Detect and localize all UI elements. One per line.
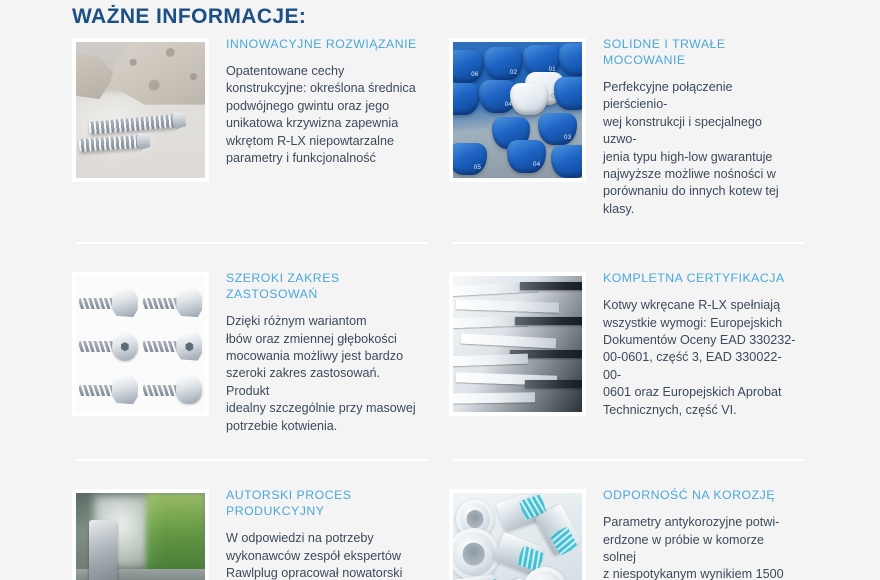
stadium-seat: 06 <box>453 50 484 83</box>
info-row-3: AUTORSKI PROCES PRODUKCYJNY W odpowiedzi… <box>0 459 880 580</box>
screw-head-variants-photo <box>72 272 209 416</box>
block-body-text: Parametry antykorozyjne potwi- erdzone w… <box>603 515 784 580</box>
folder-slab <box>520 282 582 290</box>
screw-variant-torx-countersunk <box>79 325 138 367</box>
block-body: W odpowiedzi na potrzeby wykonawców zesp… <box>226 530 419 580</box>
stadium-seat-white <box>510 83 549 116</box>
stadium-seat: 03 <box>538 113 577 146</box>
section-divider <box>453 459 805 461</box>
stadium-seat <box>559 43 582 76</box>
block-body: Kotwy wkręcane R-LX spełniają wszystkie … <box>603 297 796 419</box>
forging-machine-photo <box>72 489 209 580</box>
rock-fragment-small <box>76 53 115 99</box>
info-row-2: SZEROKI ZAKRES ZASTOSOWAŃ Dzięki różnym … <box>0 242 880 435</box>
info-grid: INNOWACYJNE ROZWIĄZANIE Opatentowane cec… <box>0 32 880 580</box>
paper-sheet <box>455 299 558 312</box>
screw-variant-pan-head <box>143 369 202 411</box>
info-block-solidne-i-trwale-mocowanie: 06 02 01 03 04 03 05 04 <box>449 32 826 218</box>
stadium-seat <box>554 77 582 110</box>
info-block-kompletna-certyfikacja: KOMPLETNA CERTYFIKACJA Kotwy wkręcane R-… <box>449 242 826 435</box>
block-title: KOMPLETNA CERTYFIKACJA <box>603 270 796 286</box>
block-body: Perfekcyjne połączenie pierścienio- wej … <box>603 79 796 218</box>
block-body: Parametry antykorozyjne potwi- erdzone w… <box>603 514 796 580</box>
screw-variant-threaded-rod <box>143 282 202 324</box>
concrete-screws-photo <box>72 38 209 182</box>
screw-variant-hex-flange <box>79 282 138 324</box>
screw-variant-hex-head <box>79 369 138 411</box>
concrete-screw-lower <box>78 135 141 152</box>
zinc-washer <box>453 528 499 580</box>
folder-slab <box>525 380 582 388</box>
page-title: WAŻNE INFORMACJE: <box>72 5 306 29</box>
block-body: Dzięki różnym wariantom łbów oraz zmienn… <box>226 313 419 435</box>
section-divider <box>76 459 428 461</box>
info-row-1: INNOWACYJNE ROZWIĄZANIE Opatentowane cec… <box>0 32 880 218</box>
machine-forming-tool <box>89 520 117 580</box>
info-block-innowacyjne-rozwiazanie: INNOWACYJNE ROZWIĄZANIE Opatentowane cec… <box>72 32 449 218</box>
stadium-seats-photo: 06 02 01 03 04 03 05 04 <box>449 38 586 182</box>
block-title: INNOWACYJNE ROZWIĄZANIE <box>226 36 419 52</box>
block-title: ODPORNOŚĆ NA KOROZJĘ <box>603 487 796 503</box>
info-block-autorski-proces-produkcyjny: AUTORSKI PROCES PRODUKCYJNY W odpowiedzi… <box>72 459 449 580</box>
paper-sheet <box>453 354 528 366</box>
machine-green-panel <box>146 493 205 577</box>
section-divider <box>453 242 805 244</box>
info-block-szeroki-zakres-zastosowan: SZEROKI ZAKRES ZASTOSOWAŃ Dzięki różnym … <box>72 242 449 435</box>
stadium-seat: 05 <box>453 143 487 176</box>
section-divider <box>76 242 428 244</box>
concrete-screw-upper <box>88 114 177 135</box>
block-title: SZEROKI ZAKRES ZASTOSOWAŃ <box>226 270 419 302</box>
screw-variant-torx-hex <box>143 325 202 367</box>
folder-slab <box>515 317 582 325</box>
stadium-seat <box>453 83 480 116</box>
stacked-documents-photo <box>449 272 586 416</box>
stadium-seat: 04 <box>507 140 546 173</box>
paper-sheet <box>453 392 536 403</box>
paper-sheet <box>461 334 557 348</box>
info-block-odpornosc-na-korozje: ODPORNOŚĆ NA KOROZJĘ Parametry antykoroz… <box>449 459 826 580</box>
block-title: SOLIDNE I TRWAŁE MOCOWANIE <box>603 36 796 68</box>
rock-fragment-large <box>110 42 205 105</box>
stadium-seat <box>551 145 582 178</box>
block-body: Opatentowane cechy konstrukcyjne: określ… <box>226 63 419 167</box>
block-title: AUTORSKI PROCES PRODUKCYJNY <box>226 487 419 519</box>
zinc-flake-screws-photo <box>449 489 586 580</box>
stadium-seat: 02 <box>484 47 523 80</box>
